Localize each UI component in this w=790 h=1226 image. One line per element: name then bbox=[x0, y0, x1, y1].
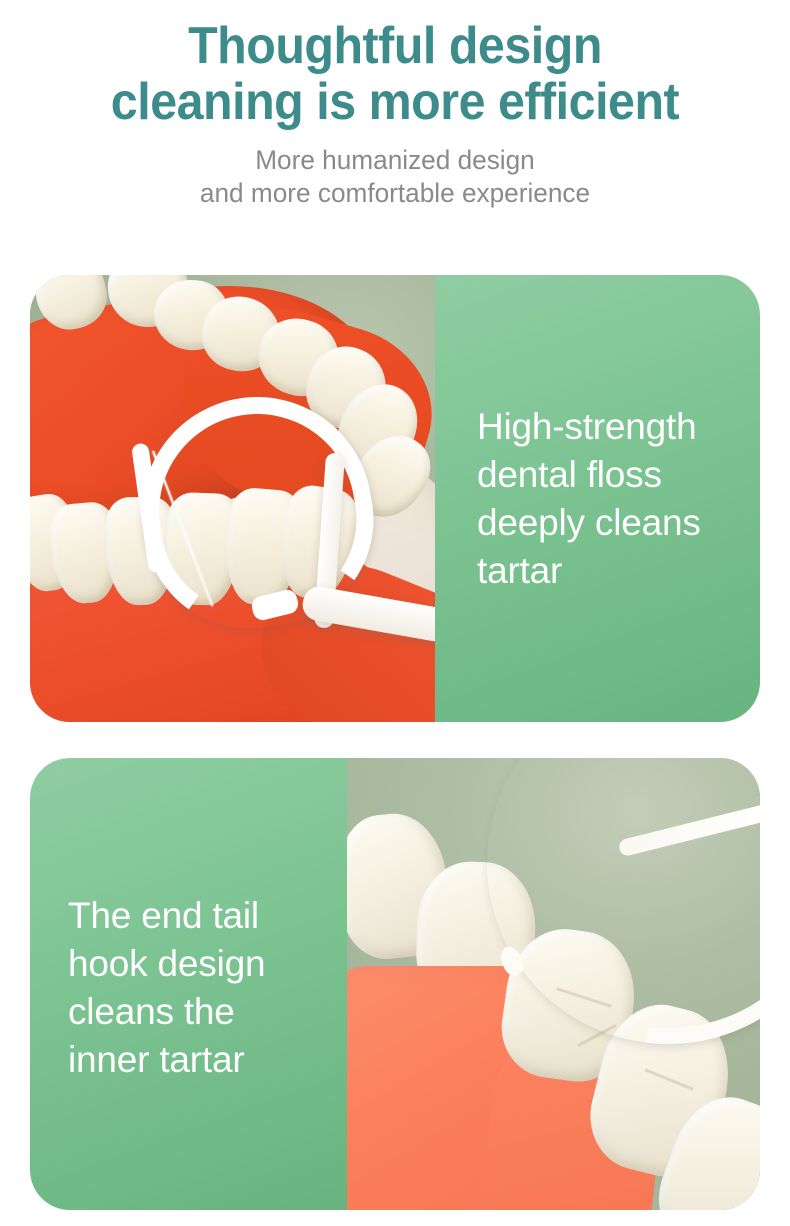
caption-line-3: cleans the bbox=[68, 988, 265, 1036]
caption-line-3: deeply cleans bbox=[477, 499, 701, 547]
caption-line-1: The end tail bbox=[68, 892, 265, 940]
page-title-line-2: cleaning is more efficient bbox=[28, 74, 763, 130]
page-title: Thoughtful design cleaning is more effic… bbox=[28, 18, 763, 130]
page-title-line-1: Thoughtful design bbox=[28, 18, 763, 74]
page-subtitle-line-2: and more comfortable experience bbox=[12, 177, 778, 210]
feature-text-floss-strength: High-strength dental floss deeply cleans… bbox=[435, 275, 760, 722]
product-photo-hook-on-molars bbox=[347, 758, 760, 1210]
caption-line-4: tartar bbox=[477, 547, 701, 595]
product-photo-floss-between-teeth bbox=[30, 275, 435, 722]
feature-panel-floss-strength: High-strength dental floss deeply cleans… bbox=[30, 275, 760, 722]
page-header: Thoughtful design cleaning is more effic… bbox=[0, 0, 790, 210]
feature-text-tail-hook: The end tail hook design cleans the inne… bbox=[30, 758, 347, 1210]
page-subtitle-line-1: More humanized design bbox=[12, 144, 778, 177]
caption-line-2: dental floss bbox=[477, 451, 701, 499]
caption-line-4: inner tartar bbox=[68, 1036, 265, 1084]
feature-caption: High-strength dental floss deeply cleans… bbox=[477, 403, 701, 595]
caption-line-1: High-strength bbox=[477, 403, 701, 451]
page-subtitle: More humanized design and more comfortab… bbox=[0, 144, 790, 210]
feature-caption: The end tail hook design cleans the inne… bbox=[68, 892, 265, 1084]
caption-line-2: hook design bbox=[68, 940, 265, 988]
feature-panel-tail-hook: The end tail hook design cleans the inne… bbox=[30, 758, 760, 1210]
